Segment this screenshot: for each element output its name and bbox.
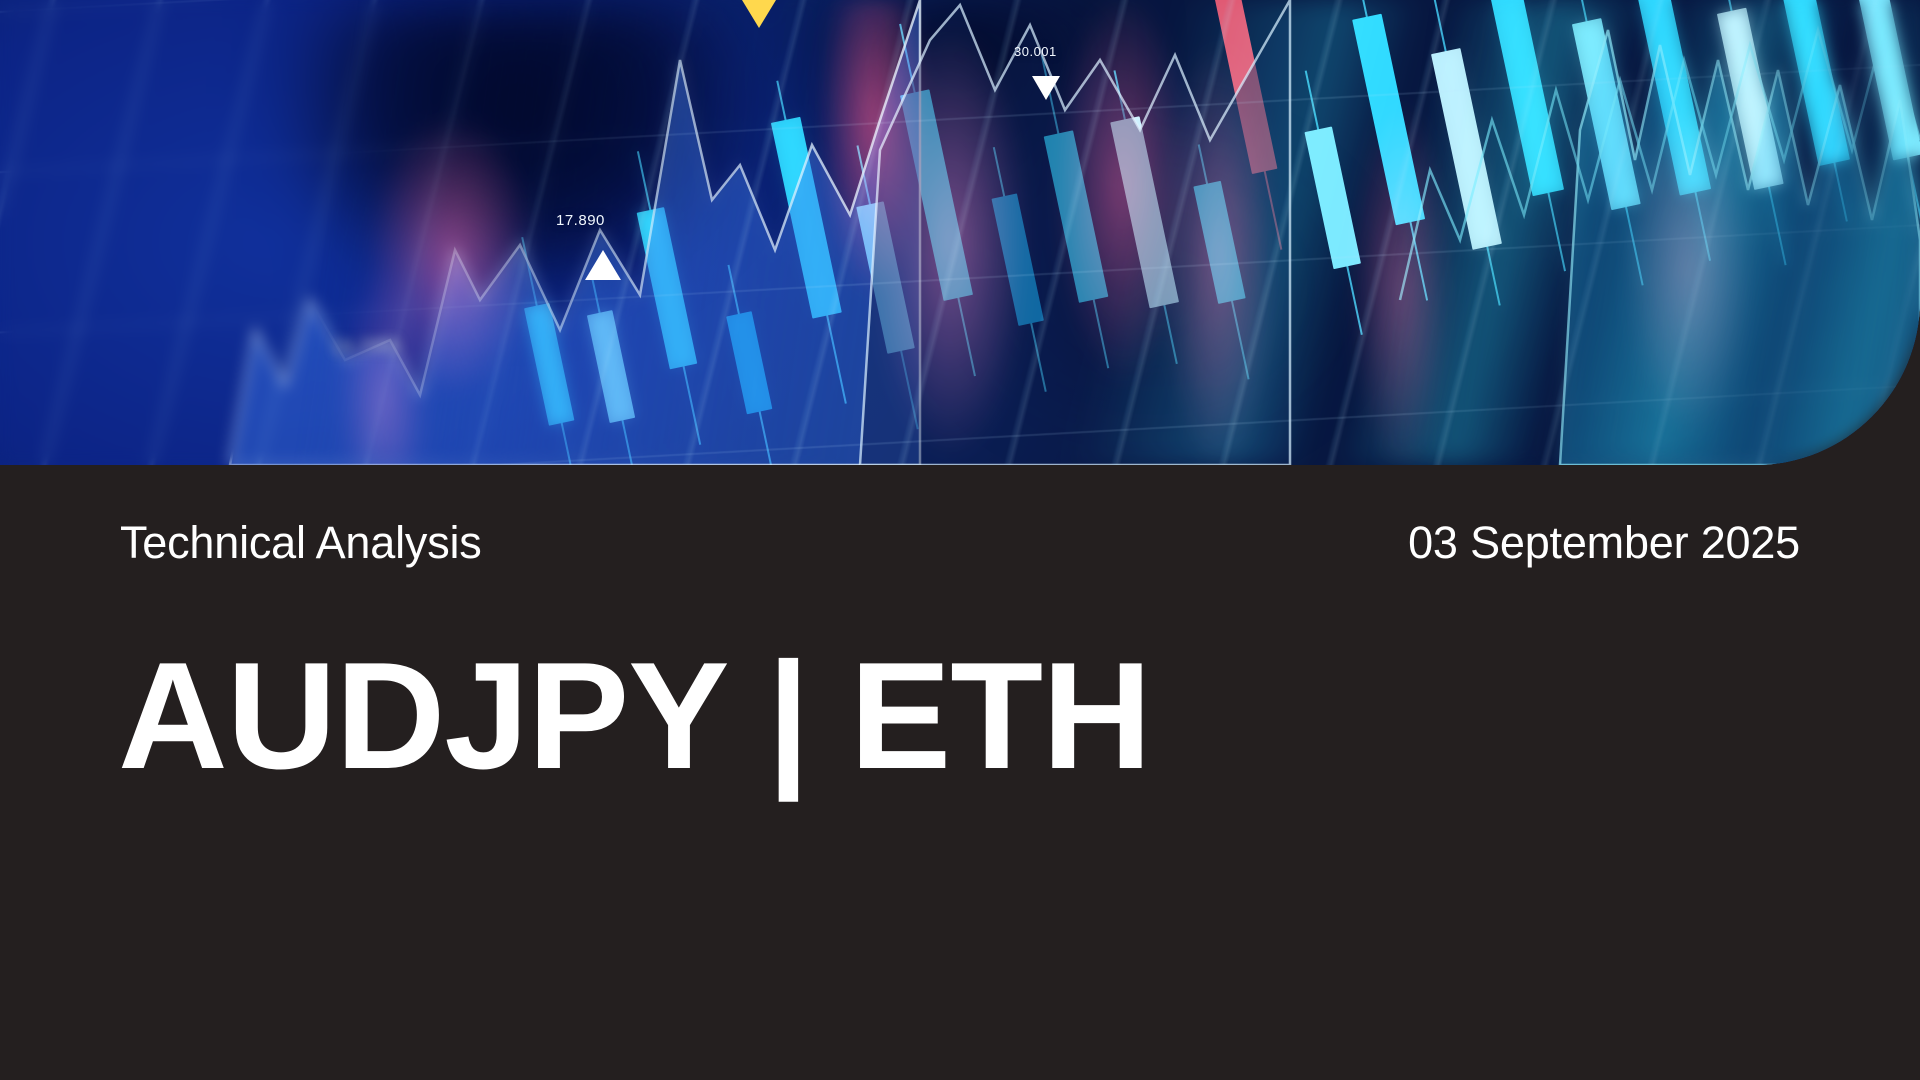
triangle-up-icon-17890 xyxy=(585,250,621,280)
hero-depth-of-field xyxy=(0,0,1920,465)
meta-row: Technical Analysis 03 September 2025 xyxy=(120,520,1800,565)
kicker-label: Technical Analysis xyxy=(120,520,482,565)
publication-date: 03 September 2025 xyxy=(1408,520,1800,565)
banner-page: 17.890 30.001 19.7983 Technical Analysis… xyxy=(0,0,1920,1080)
page-title: AUDJPY | ETH xyxy=(118,640,1151,792)
triangle-down-icon-yellow xyxy=(742,0,776,28)
price-marker-label-197983: 19.7983 xyxy=(332,336,401,357)
price-marker-label-30001: 30.001 xyxy=(1014,44,1057,59)
hero-image: 17.890 30.001 19.7983 xyxy=(0,0,1920,465)
triangle-down-icon-30001 xyxy=(1032,76,1060,100)
price-marker-label-17890: 17.890 xyxy=(556,212,605,229)
